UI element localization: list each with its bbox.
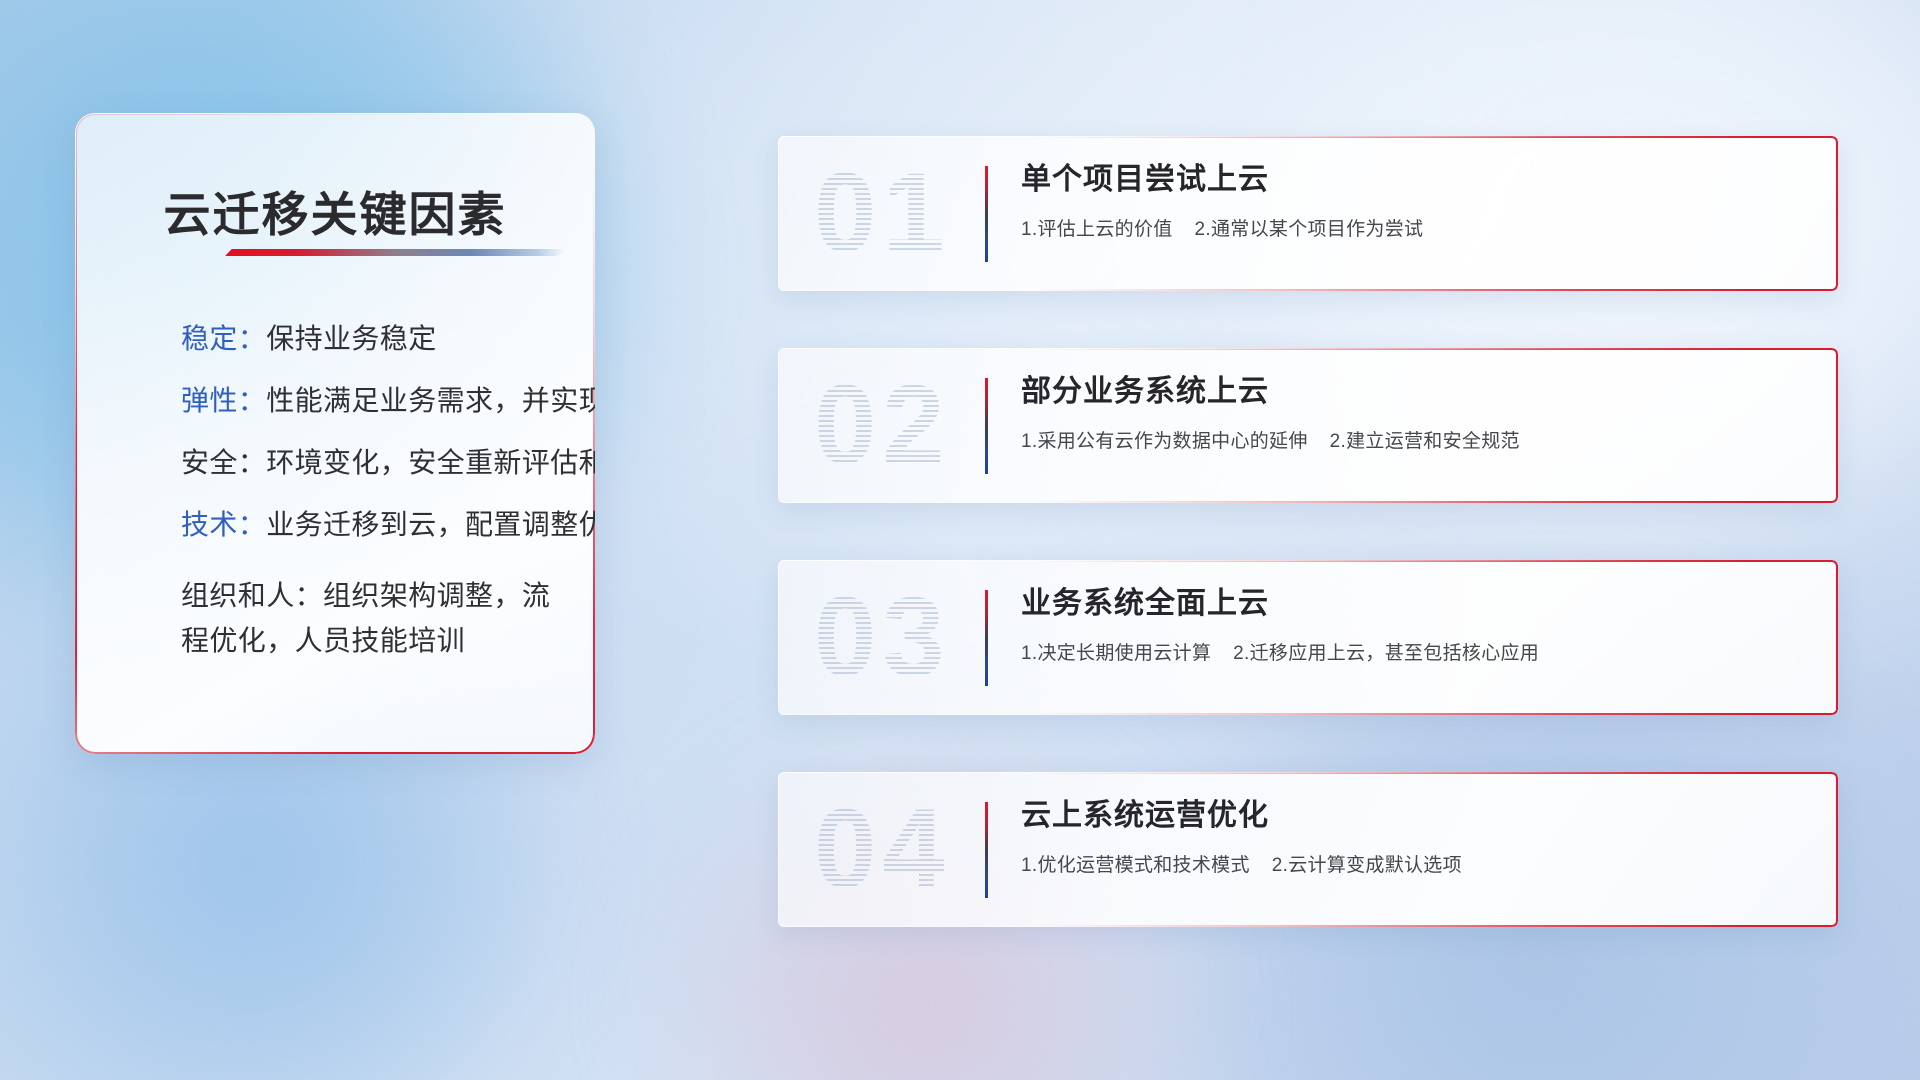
step-point-2: 2.云计算变成默认选项 [1272,855,1462,876]
step-divider-accent [985,166,988,262]
step-title: 云上系统运营优化 [1021,796,1808,836]
step-content: 云上系统运营优化 1.优化运营模式和技术模式2.云计算变成默认选项 [1021,796,1808,877]
step-content: 业务系统全面上云 1.决定长期使用云计算2.迁移应用上云，甚至包括核心应用 [1021,584,1808,665]
step-content: 单个项目尝试上云 1.评估上云的价值2.通常以某个项目作为尝试 [1021,160,1808,241]
factor-label: 技术： [181,509,266,540]
factor-list: 稳定：保持业务稳定 弹性：性能满足业务需求，并实现弹性 安全：环境变化，安全重新… [181,325,561,664]
step-points: 1.评估上云的价值2.通常以某个项目作为尝试 [1021,214,1808,241]
step-points: 1.优化运营模式和技术模式2.云计算变成默认选项 [1021,850,1808,877]
factor-label: 稳定： [181,323,266,354]
page-title: 云迁移关键因素 [75,176,595,245]
step-point-1: 1.优化运营模式和技术模式 [1021,855,1250,876]
step-points: 1.决定长期使用云计算2.迁移应用上云，甚至包括核心应用 [1021,638,1808,665]
factor-row: 稳定：保持业务稳定 [181,325,561,353]
factor-row: 组织和人：组织架构调整，流程优化，人员技能培训 [181,573,561,664]
step-card-04[interactable]: 04 云上系统运营优化 1.优化运营模式和技术模式2.云计算变成默认选项 [778,772,1838,927]
factor-value: 环境变化，安全重新评估和评审 [266,447,595,478]
step-point-2: 2.建立运营和安全规范 [1330,431,1520,452]
step-number-watermark: 01 [814,148,951,278]
factor-label: 组织和人： [181,580,323,611]
step-card-03[interactable]: 03 业务系统全面上云 1.决定长期使用云计算2.迁移应用上云，甚至包括核心应用 [778,560,1838,715]
step-number-watermark: 04 [814,784,951,914]
step-card-02[interactable]: 02 部分业务系统上云 1.采用公有云作为数据中心的延伸2.建立运营和安全规范 [778,348,1838,503]
step-number-watermark: 03 [814,572,951,702]
step-point-2: 2.迁移应用上云，甚至包括核心应用 [1233,643,1539,664]
step-title: 业务系统全面上云 [1021,584,1808,624]
step-divider-accent [985,590,988,686]
step-divider-accent [985,378,988,474]
slide-stage: 云迁移关键因素 稳定：保持业务稳定 弹性：性能满足业务需求，并实现弹性 安全：环… [0,0,1920,1080]
title-underline-accent [225,249,565,256]
factor-row: 技术：业务迁移到云，配置调整优化 [181,511,561,539]
factor-row: 弹性：性能满足业务需求，并实现弹性 [181,387,561,415]
factor-row: 安全：环境变化，安全重新评估和评审 [181,449,561,477]
step-title: 部分业务系统上云 [1021,372,1808,412]
factor-value: 保持业务稳定 [266,323,436,354]
step-point-1: 1.评估上云的价值 [1021,219,1173,240]
step-number-watermark: 02 [814,360,951,490]
factor-label: 弹性： [181,385,266,416]
factor-label: 安全： [181,447,266,478]
step-points: 1.采用公有云作为数据中心的延伸2.建立运营和安全规范 [1021,426,1808,453]
step-content: 部分业务系统上云 1.采用公有云作为数据中心的延伸2.建立运营和安全规范 [1021,372,1808,453]
step-card-01[interactable]: 01 单个项目尝试上云 1.评估上云的价值2.通常以某个项目作为尝试 [778,136,1838,291]
factor-value: 业务迁移到云，配置调整优化 [266,509,595,540]
step-title: 单个项目尝试上云 [1021,160,1808,200]
step-point-2: 2.通常以某个项目作为尝试 [1195,219,1424,240]
factor-value: 性能满足业务需求，并实现弹性 [266,385,595,416]
step-point-1: 1.决定长期使用云计算 [1021,643,1211,664]
step-divider-accent [985,802,988,898]
step-point-1: 1.采用公有云作为数据中心的延伸 [1021,431,1308,452]
key-factors-panel: 云迁移关键因素 稳定：保持业务稳定 弹性：性能满足业务需求，并实现弹性 安全：环… [75,113,595,754]
